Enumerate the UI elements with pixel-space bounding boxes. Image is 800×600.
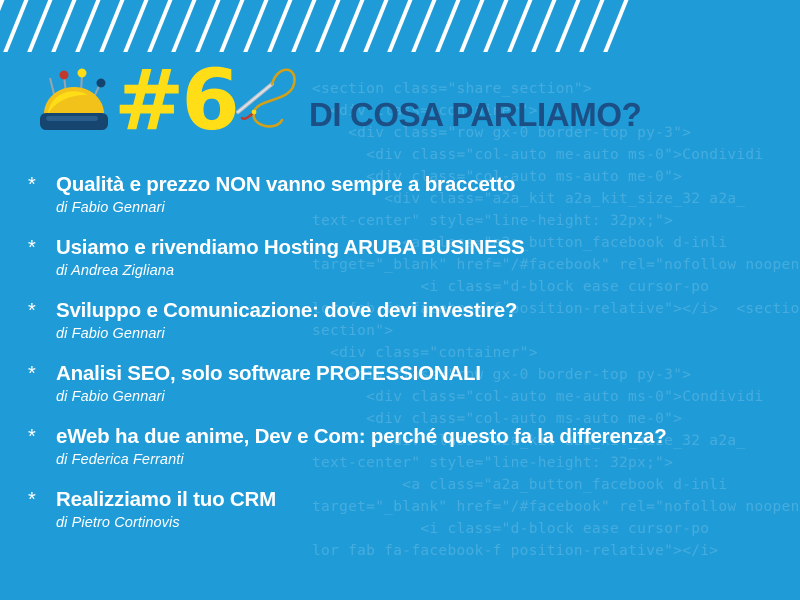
talk-title: Qualità e prezzo NON vanno sempre a brac… [56,172,786,197]
diagonal-stripe [552,0,586,52]
diagonal-stripe [48,0,82,52]
bullet-asterisk-icon: * [28,362,36,386]
diagonal-stripe [504,0,538,52]
talk-title: eWeb ha due anime, Dev e Com: perché que… [56,424,786,449]
bullet-asterisk-icon: * [28,173,36,197]
talk-title: Analisi SEO, solo software PROFESSIONALI [56,361,786,386]
bullet-asterisk-icon: * [28,299,36,323]
diagonal-stripe [576,0,610,52]
diagonal-stripe [432,0,466,52]
diagonal-stripe [312,0,346,52]
needle-and-thread-icon [232,60,304,144]
diagonal-stripe [384,0,418,52]
diagonal-stripe-decoration [0,0,660,52]
diagonal-stripe [168,0,202,52]
talk-title: Sviluppo e Comunicazione: dove devi inve… [56,298,786,323]
talk-list: *Qualità e prezzo NON vanno sempre a bra… [26,172,786,550]
page-title: DI COSA PARLIAMO? [309,96,641,134]
pin-head-navy [97,79,106,88]
bullet-asterisk-icon: * [28,488,36,512]
talk-list-item: *Sviluppo e Comunicazione: dove devi inv… [26,298,786,344]
diagonal-stripe [480,0,514,52]
diagonal-stripe [0,0,34,52]
diagonal-stripe [336,0,370,52]
talk-author: di Fabio Gennari [56,387,786,407]
talk-author: di Fabio Gennari [56,198,786,218]
presentation-slide: <section class="share_section"> <div cla… [0,0,800,600]
pin-head-red [60,71,69,80]
diagonal-stripe [288,0,322,52]
talk-author: di Pietro Cortinovis [56,513,786,533]
diagonal-stripe [192,0,226,52]
talk-list-item: *Usiamo e rivendiamo Hosting ARUBA BUSIN… [26,235,786,281]
diagonal-stripe [72,0,106,52]
talk-title: Realizziamo il tuo CRM [56,487,786,512]
bullet-asterisk-icon: * [28,236,36,260]
diagonal-stripe [360,0,394,52]
talk-author: di Andrea Zigliana [56,261,786,281]
episode-number: #6 [114,50,237,150]
diagonal-stripe [240,0,274,52]
diagonal-stripe [120,0,154,52]
diagonal-stripe [264,0,298,52]
diagonal-stripe [408,0,442,52]
pincushion-icon [36,62,112,136]
episode-logo-lockup: #6 [36,56,296,148]
bullet-asterisk-icon: * [28,425,36,449]
diagonal-stripe [528,0,562,52]
talk-list-item: *Analisi SEO, solo software PROFESSIONAL… [26,361,786,407]
talk-author: di Federica Ferranti [56,450,786,470]
diagonal-stripe [144,0,178,52]
diagonal-stripe [456,0,490,52]
diagonal-stripe [600,0,634,52]
diagonal-stripe [96,0,130,52]
talk-author: di Fabio Gennari [56,324,786,344]
talk-list-item: *Realizziamo il tuo CRMdi Pietro Cortino… [26,487,786,533]
code-line: <div class="col-auto me-auto ms-0">Condi… [312,144,800,166]
diagonal-stripe [24,0,58,52]
talk-list-item: *eWeb ha due anime, Dev e Com: perché qu… [26,424,786,470]
talk-title: Usiamo e rivendiamo Hosting ARUBA BUSINE… [56,235,786,260]
pin-head-yellow [78,69,87,78]
diagonal-stripe [216,0,250,52]
talk-list-item: *Qualità e prezzo NON vanno sempre a bra… [26,172,786,218]
diagonal-stripe [0,0,10,52]
